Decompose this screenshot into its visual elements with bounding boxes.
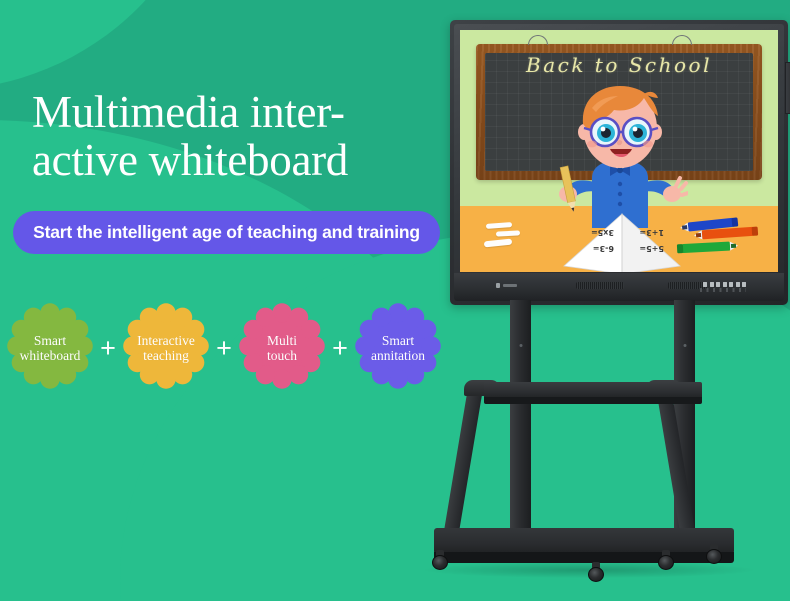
headline: Multimedia inter- active whiteboard — [32, 88, 462, 184]
feature-badge-multi-touch[interactable]: Multi touch — [236, 300, 328, 396]
wheel-icon — [658, 555, 674, 570]
wheel-icon — [432, 555, 448, 570]
feature-badge-interactive-teaching[interactable]: Interactive teaching — [120, 300, 212, 396]
caster-wheel-front-left — [588, 562, 604, 582]
front-port-row[interactable] — [703, 282, 746, 287]
speaker-grille-left — [576, 282, 624, 289]
display-screen[interactable]: Back to School — [460, 30, 778, 272]
port-icon[interactable] — [723, 282, 727, 287]
port-icon[interactable] — [729, 282, 733, 287]
port-icon[interactable] — [703, 282, 707, 287]
marker-pens-illustration — [674, 212, 770, 256]
feature-badge-row: Smart whiteboard + Interactive teaching … — [4, 300, 444, 396]
port-labels — [700, 288, 746, 292]
bezel-sensor-indicators — [496, 283, 517, 288]
caster-wheel-back-left — [432, 550, 448, 570]
port-icon[interactable] — [742, 282, 746, 287]
mobile-cart-stand — [418, 300, 790, 600]
interactive-display[interactable]: Back to School — [450, 20, 788, 305]
plus-separator-3: + — [328, 335, 352, 362]
screw-icon — [683, 344, 686, 347]
cart-base-platform-edge — [434, 552, 734, 563]
port-icon[interactable] — [716, 282, 720, 287]
display-side-handle — [785, 62, 790, 114]
power-led-icon — [496, 283, 500, 288]
caster-wheel-front-right — [658, 550, 674, 570]
caster-wheel-back-right — [706, 544, 722, 564]
promo-banner: Multimedia inter- active whiteboard Star… — [0, 0, 790, 601]
plus-separator-1: + — [96, 335, 120, 362]
subtitle-pill[interactable]: Start the intelligent age of teaching an… — [13, 211, 440, 254]
book-equation: 5+5= — [639, 244, 664, 253]
book-equation: 6-3= — [593, 244, 614, 253]
cart-leg-left — [442, 387, 483, 545]
open-book-illustration: 6-3= 3x5= 5+5= 1+3= — [556, 208, 688, 272]
cart-post-left — [510, 300, 531, 548]
cartoon-boy-illustration — [552, 78, 688, 228]
wheel-icon — [588, 567, 604, 582]
cart-middle-shelf-edge — [484, 397, 702, 404]
feature-badge-label: Multi touch — [236, 300, 328, 396]
product-image: Back to School — [418, 12, 790, 601]
background-swoosh-top-left — [0, 0, 220, 90]
cart-base-platform — [434, 528, 734, 554]
chalkboard-text: Back to School — [476, 53, 762, 77]
book-equation: 3x5= — [591, 228, 614, 237]
screw-icon — [519, 344, 522, 347]
port-icon[interactable] — [736, 282, 740, 287]
wheel-icon — [706, 549, 722, 564]
feature-badge-label: Smart whiteboard — [4, 300, 96, 396]
subtitle-text: Start the intelligent age of teaching an… — [33, 222, 420, 243]
book-equation: 1+3= — [639, 228, 664, 237]
plus-separator-2: + — [212, 335, 236, 362]
display-bottom-bezel — [454, 273, 784, 301]
ir-sensor-icon — [503, 284, 517, 287]
feature-badge-label: Interactive teaching — [120, 300, 212, 396]
feature-badge-smart-whiteboard[interactable]: Smart whiteboard — [4, 300, 96, 396]
port-icon[interactable] — [710, 282, 714, 287]
